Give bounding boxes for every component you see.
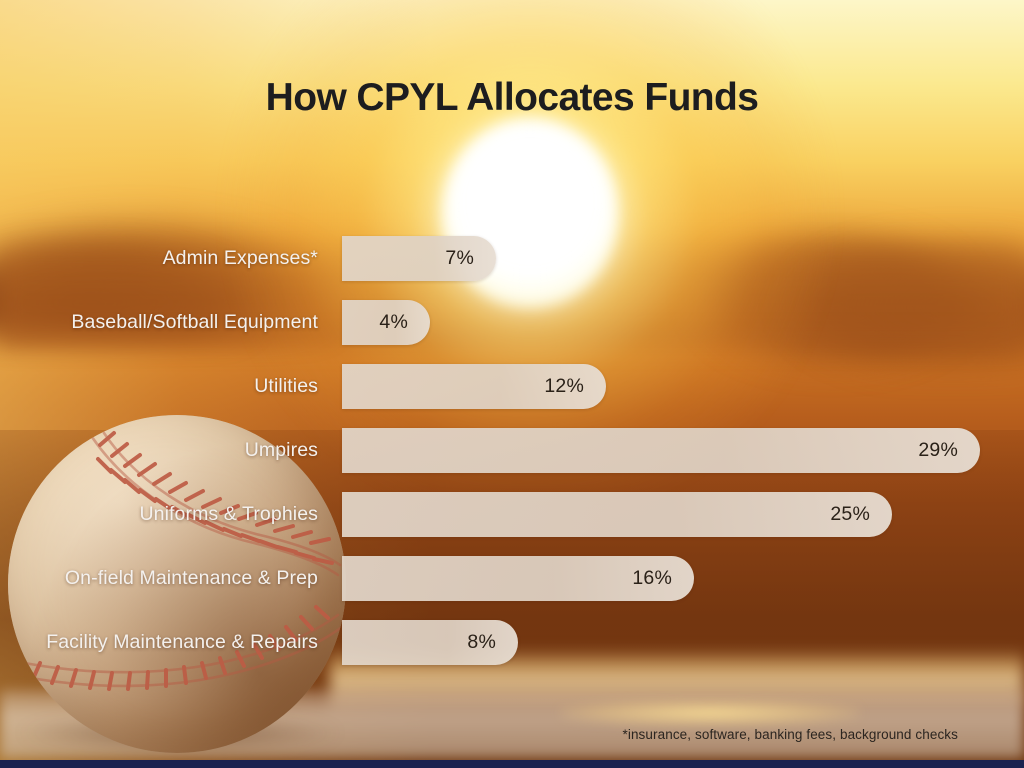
bar-baseball-softball-equipment[interactable]: 4% <box>342 300 430 345</box>
bar-facility-maintenance-repairs[interactable]: 8% <box>342 620 518 665</box>
bar-label-facility-maintenance-repairs: Facility Maintenance & Repairs <box>0 631 318 654</box>
table-row: Umpires 29% <box>0 428 1024 473</box>
bar-label-utilities: Utilities <box>0 375 318 398</box>
table-row: Utilities 12% <box>0 364 1024 409</box>
page-title: How CPYL Allocates Funds <box>0 76 1024 120</box>
bar-chart: Admin Expenses* 7% Baseball/Softball Equ… <box>0 236 1024 684</box>
bar-value-admin-expenses: 7% <box>445 247 496 270</box>
table-row: Facility Maintenance & Repairs 8% <box>0 620 1024 665</box>
bar-uniforms-trophies[interactable]: 25% <box>342 492 892 537</box>
bar-label-uniforms-trophies: Uniforms & Trophies <box>0 503 318 526</box>
bar-track: 25% <box>342 492 1024 537</box>
bar-value-facility-maintenance-repairs: 8% <box>467 631 518 654</box>
bar-track: 4% <box>342 300 1024 345</box>
table-row: Uniforms & Trophies 25% <box>0 492 1024 537</box>
bar-value-baseball-softball-equipment: 4% <box>379 311 430 334</box>
bar-track: 29% <box>342 428 1024 473</box>
bar-on-field-maintenance-prep[interactable]: 16% <box>342 556 694 601</box>
bar-admin-expenses[interactable]: 7% <box>342 236 496 281</box>
bar-value-uniforms-trophies: 25% <box>830 503 892 526</box>
bar-umpires[interactable]: 29% <box>342 428 980 473</box>
bar-value-on-field-maintenance-prep: 16% <box>632 567 694 590</box>
bar-label-on-field-maintenance-prep: On-field Maintenance & Prep <box>0 567 318 590</box>
bar-utilities[interactable]: 12% <box>342 364 606 409</box>
bar-track: 7% <box>342 236 1024 281</box>
table-row: Admin Expenses* 7% <box>0 236 1024 281</box>
bar-track: 16% <box>342 556 1024 601</box>
footnote: *insurance, software, banking fees, back… <box>623 727 959 742</box>
infographic-canvas: How CPYL Allocates Funds Admin Expenses*… <box>0 0 1024 768</box>
water-glint <box>560 700 860 726</box>
table-row: On-field Maintenance & Prep 16% <box>0 556 1024 601</box>
bar-value-utilities: 12% <box>544 375 606 398</box>
bar-track: 8% <box>342 620 1024 665</box>
table-row: Baseball/Softball Equipment 4% <box>0 300 1024 345</box>
bar-label-admin-expenses: Admin Expenses* <box>0 247 318 270</box>
bar-value-umpires: 29% <box>918 439 980 462</box>
bar-label-baseball-softball-equipment: Baseball/Softball Equipment <box>0 311 318 334</box>
bar-track: 12% <box>342 364 1024 409</box>
bottom-accent-strip <box>0 760 1024 768</box>
bar-label-umpires: Umpires <box>0 439 318 462</box>
